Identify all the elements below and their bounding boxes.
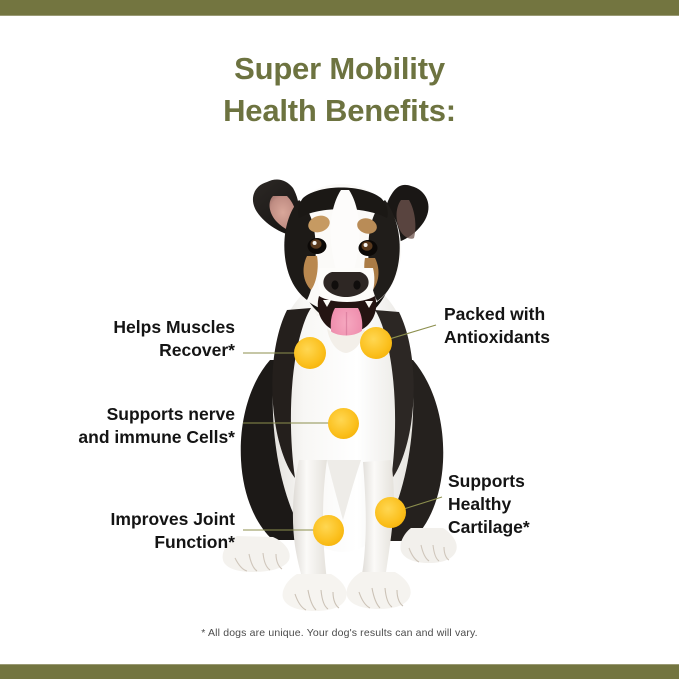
callout-label-supports-nerve-and-immune-cells: Supports nerve and immune Cells* — [20, 403, 235, 449]
hotspot-dot-supports-nerve-and-immune-cells[interactable] — [328, 408, 359, 439]
hotspot-dot-packed-with-antioxidants[interactable] — [360, 327, 392, 359]
dog-illustration — [215, 160, 470, 615]
page-title-line-1: Super Mobility — [0, 48, 679, 90]
hotspot-dot-improves-joint-function[interactable] — [313, 515, 344, 546]
page-title-line-2: Health Benefits: — [0, 90, 679, 132]
dog-right-nostril — [353, 280, 360, 289]
callout-label-helps-muscles-recover: Helps Muscles Recover* — [40, 316, 235, 362]
callout-label-packed-with-antioxidants: Packed with Antioxidants — [444, 303, 644, 349]
infographic-canvas: Super Mobility Health Benefits: — [0, 0, 679, 679]
dog-left-paw — [283, 574, 347, 611]
dog-left-eye-highlight — [313, 241, 317, 245]
page-title: Super Mobility Health Benefits: — [0, 48, 679, 132]
footnote-disclaimer: * All dogs are unique. Your dog's result… — [0, 627, 679, 639]
hotspot-dot-supports-healthy-cartilage[interactable] — [375, 497, 406, 528]
top-olive-band — [0, 0, 679, 16]
bottom-olive-band — [0, 664, 679, 679]
dog-right-eye-highlight — [364, 243, 368, 247]
callout-label-improves-joint-function: Improves Joint Function* — [40, 508, 235, 554]
hotspot-dot-helps-muscles-recover[interactable] — [294, 337, 326, 369]
callout-label-supports-healthy-cartilage: Supports Healthy Cartilage* — [448, 470, 638, 539]
dog-right-paw — [347, 572, 411, 609]
dog-left-nostril — [331, 280, 338, 289]
dog-photo — [215, 160, 470, 615]
